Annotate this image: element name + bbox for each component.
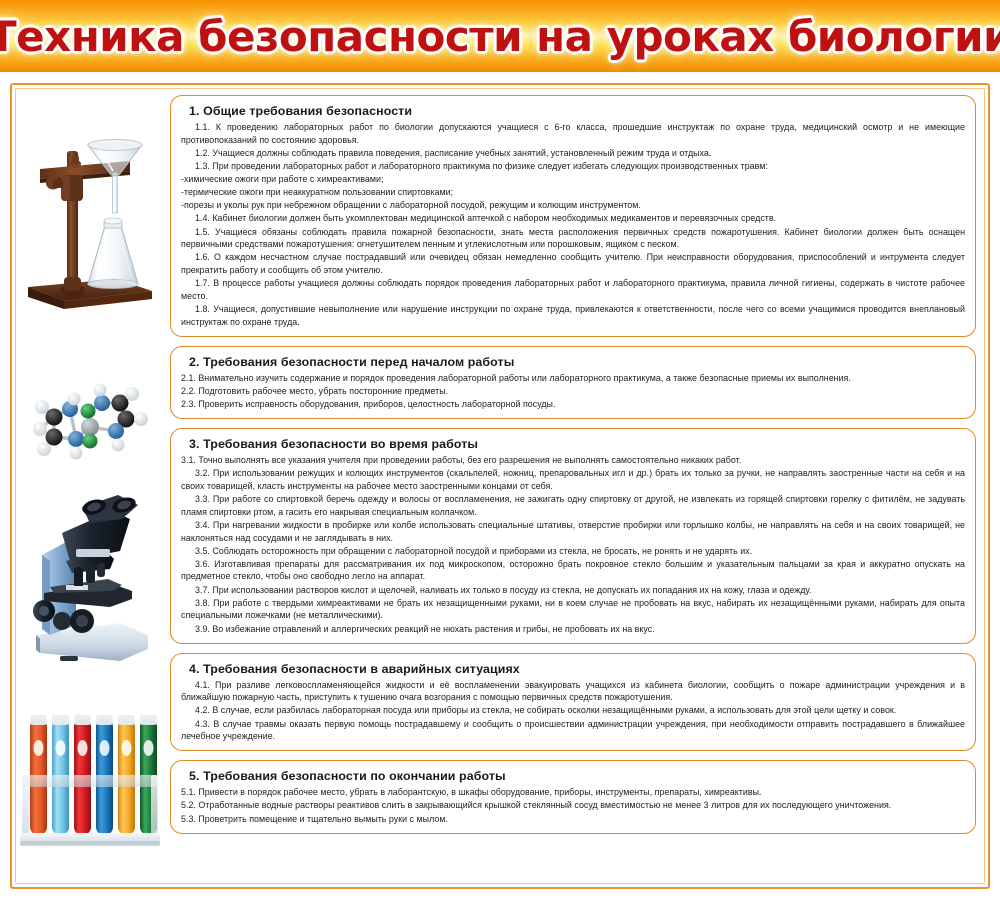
molecule-illustration (20, 373, 160, 473)
section-1-paragraph-8: 1.8. Учащиеся, допустившие невыполнение … (181, 303, 965, 328)
section-2-paragraph-2: 2.2. Подготовить рабочее место, убрать п… (181, 385, 965, 398)
section-1-paragraph-6: 1.6. О каждом несчастном случае пострада… (181, 251, 965, 276)
section-3-paragraph-3: 3.3. При работе со спиртовкой беречь оде… (181, 493, 965, 518)
section-1: 1. Общие требования безопасности 1.1. К … (170, 95, 976, 337)
section-3-paragraph-4: 3.4. При нагревании жидкости в пробирке … (181, 519, 965, 544)
section-1-bullet-3: -порезы и уколы рук при небрежном обраще… (181, 199, 965, 212)
atom-chlorine (81, 404, 96, 419)
safety-poster: Техника безопасности на уроках биологии (0, 0, 1000, 901)
atom-hydrogen (35, 400, 49, 414)
microscope-illustration (20, 493, 165, 671)
page-title: Техника безопасности на уроках биологии (0, 12, 1000, 61)
section-4-paragraph-2: 4.2. В случае, если разбилась лабораторн… (181, 704, 965, 717)
section-2-paragraph-1: 2.1. Внимательно изучить содержание и по… (181, 372, 965, 385)
section-3-paragraph-9: 3.9. Во избежание отравлений и аллергиче… (181, 623, 965, 636)
section-1-bullet-1: -химические ожоги при работе с химреакти… (181, 173, 965, 186)
section-3-paragraph-5: 3.5. Соблюдать осторожность при обращени… (181, 545, 965, 558)
section-3-paragraph-6: 3.6. Изготавливая препараты для рассматр… (181, 558, 965, 583)
section-5: 5. Требования безопасности по окончании … (170, 760, 976, 833)
section-1-paragraph-5: 1.5. Учащиеся обязаны соблюдать правила … (181, 226, 965, 251)
section-3-paragraph-7: 3.7. При использовании растворов кислот … (181, 584, 965, 597)
section-1-paragraph-1: 1.1. К проведению лабораторных работ по … (181, 121, 965, 146)
lab-stand-funnel-flask-icon (20, 109, 160, 324)
section-3-title: 3. Требования безопасности во время рабо… (189, 437, 965, 451)
section-5-title: 5. Требования безопасности по окончании … (189, 769, 965, 783)
illustration-column (20, 95, 168, 877)
section-4-paragraph-1: 4.1. При разливе легковоспламеняющейся ж… (181, 679, 965, 704)
atom-metal-center (81, 418, 99, 436)
sections-column: 1. Общие требования безопасности 1.1. К … (170, 95, 976, 843)
lab-stand-illustration (20, 109, 160, 324)
section-5-paragraph-1: 5.1. Привести в порядок рабочее место, у… (181, 786, 965, 799)
test-tube-rack-illustration (20, 693, 160, 868)
section-5-paragraph-2: 5.2. Отработанные водные растворы реакти… (181, 799, 965, 812)
section-3-paragraph-2: 3.2. При использовании режущих и колющих… (181, 467, 965, 492)
section-5-paragraph-3: 5.3. Проветрить помещение и тщательно вы… (181, 813, 965, 826)
section-3-paragraph-8: 3.8. При работе с твердыми химреактивами… (181, 597, 965, 622)
section-1-paragraph-4: 1.4. Кабинет биологии должен быть укомпл… (181, 212, 965, 225)
poster-content: 1. Общие требования безопасности 1.1. К … (10, 83, 990, 889)
section-1-paragraph-2: 1.2. Учащиеся должны соблюдать правила п… (181, 147, 965, 160)
section-3-paragraph-1: 3.1. Точно выполнять все указания учител… (181, 454, 965, 467)
molecular-model-icon (20, 373, 160, 473)
section-2-title: 2. Требования безопасности перед началом… (189, 355, 965, 369)
section-4-paragraph-3: 4.3. В случае травмы оказать первую помо… (181, 718, 965, 743)
section-4-title: 4. Требования безопасности в аварийных с… (189, 662, 965, 676)
section-2-paragraph-3: 2.3. Проверить исправность оборудования,… (181, 398, 965, 411)
atom-carbon (46, 409, 63, 426)
section-1-paragraph-3: 1.3. При проведении лабораторных работ и… (181, 160, 965, 173)
section-2: 2. Требования безопасности перед началом… (170, 346, 976, 419)
section-3: 3. Требования безопасности во время рабо… (170, 428, 976, 643)
test-tube-rack-icon (20, 693, 160, 868)
title-banner: Техника безопасности на уроках биологии (0, 0, 1000, 72)
section-1-bullet-2: -термические ожоги при неаккуратном поль… (181, 186, 965, 199)
section-1-title: 1. Общие требования безопасности (189, 104, 965, 118)
section-1-paragraph-7: 1.7. В процессе работы учащиеся должны с… (181, 277, 965, 302)
microscope-icon (20, 493, 165, 671)
section-4: 4. Требования безопасности в аварийных с… (170, 653, 976, 752)
